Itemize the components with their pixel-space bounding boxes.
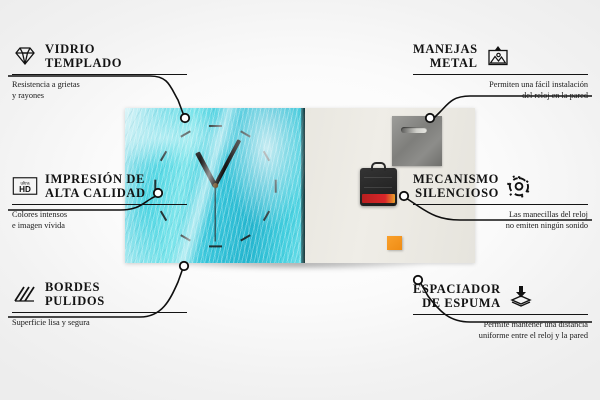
gear-icon xyxy=(506,174,532,198)
minute-hand xyxy=(213,139,241,187)
clock-tick xyxy=(209,245,222,247)
feature-title: MECANISMO SILENCIOSO xyxy=(413,172,499,200)
feature-divider xyxy=(413,314,588,315)
feature-description: Permite mantener una distancia uniforme … xyxy=(413,319,588,341)
clock-tick xyxy=(159,151,166,161)
feature-heading: MECANISMO SILENCIOSO xyxy=(413,172,588,200)
clock-tick xyxy=(263,151,270,161)
clock-mechanism xyxy=(360,168,397,206)
feature-mecanismo-silencioso[interactable]: MECANISMO SILENCIOSO Las manecillas del … xyxy=(413,172,588,231)
mechanism-detail xyxy=(364,187,392,188)
feature-title: VIDRIO TEMPLADO xyxy=(45,42,122,70)
ultra-hd-icon: ultra HD xyxy=(12,174,38,198)
feature-title: MANEJAS METAL xyxy=(413,42,478,70)
foam-spacer xyxy=(387,236,402,250)
wall-mount-frame-icon xyxy=(485,44,511,68)
clock-tick xyxy=(180,234,190,241)
feature-description: Resistencia a grietas y rayones xyxy=(12,79,187,101)
clock-tick xyxy=(263,211,270,221)
clock-tick xyxy=(180,130,190,137)
feature-divider xyxy=(12,312,187,313)
feature-divider xyxy=(413,74,588,75)
feature-bordes-pulidos[interactable]: BORDES PULIDOS Superficie lisa y segura xyxy=(12,280,187,328)
mechanism-label xyxy=(362,194,395,203)
clock-tick xyxy=(209,125,222,127)
feature-divider xyxy=(12,74,187,75)
feature-description: Las manecillas del reloj no emiten ningú… xyxy=(413,209,588,231)
feature-description: Colores intensos e imagen vívida xyxy=(12,209,187,231)
feature-description: Permiten una fácil instalación del reloj… xyxy=(413,79,588,101)
feature-vidrio-templado[interactable]: VIDRIO TEMPLADO Resistencia a grietas y … xyxy=(12,42,187,101)
clock-tick xyxy=(240,130,250,137)
feature-divider xyxy=(12,204,187,205)
metal-hanger-plate xyxy=(392,116,442,166)
feature-heading: BORDES PULIDOS xyxy=(12,280,187,308)
hour-hand xyxy=(195,152,217,188)
mechanism-loop xyxy=(371,162,386,171)
feature-heading: ultra HD IMPRESIÓN DE ALTA CALIDAD xyxy=(12,172,187,200)
diamond-icon xyxy=(12,44,38,68)
feature-title: IMPRESIÓN DE ALTA CALIDAD xyxy=(45,172,146,200)
hanger-slot xyxy=(401,127,427,133)
clock-tick xyxy=(240,234,250,241)
feature-heading: ESPACIADOR DE ESPUMA xyxy=(413,282,588,310)
svg-text:HD: HD xyxy=(19,185,31,194)
feature-heading: VIDRIO TEMPLADO xyxy=(12,42,187,70)
foam-spacer-arrow-icon xyxy=(508,284,534,308)
feature-impresion-alta-calidad[interactable]: ultra HD IMPRESIÓN DE ALTA CALIDAD Color… xyxy=(12,172,187,231)
feature-espaciador-espuma[interactable]: ESPACIADOR DE ESPUMA Permite mantener un… xyxy=(413,282,588,341)
infographic-canvas: VIDRIO TEMPLADO Resistencia a grietas y … xyxy=(0,0,600,400)
second-hand xyxy=(214,186,215,242)
clock-tick xyxy=(274,180,276,193)
mechanism-detail xyxy=(364,177,392,178)
feature-title: ESPACIADOR DE ESPUMA xyxy=(413,282,501,310)
feature-title: BORDES PULIDOS xyxy=(45,280,105,308)
feature-divider xyxy=(413,204,588,205)
clock-pivot xyxy=(213,183,218,188)
feature-heading: MANEJAS METAL xyxy=(413,42,588,70)
polished-edges-icon xyxy=(12,282,38,306)
feature-description: Superficie lisa y segura xyxy=(12,317,187,328)
feature-manejas-metal[interactable]: MANEJAS METAL Permiten una fácil instala… xyxy=(413,42,588,101)
